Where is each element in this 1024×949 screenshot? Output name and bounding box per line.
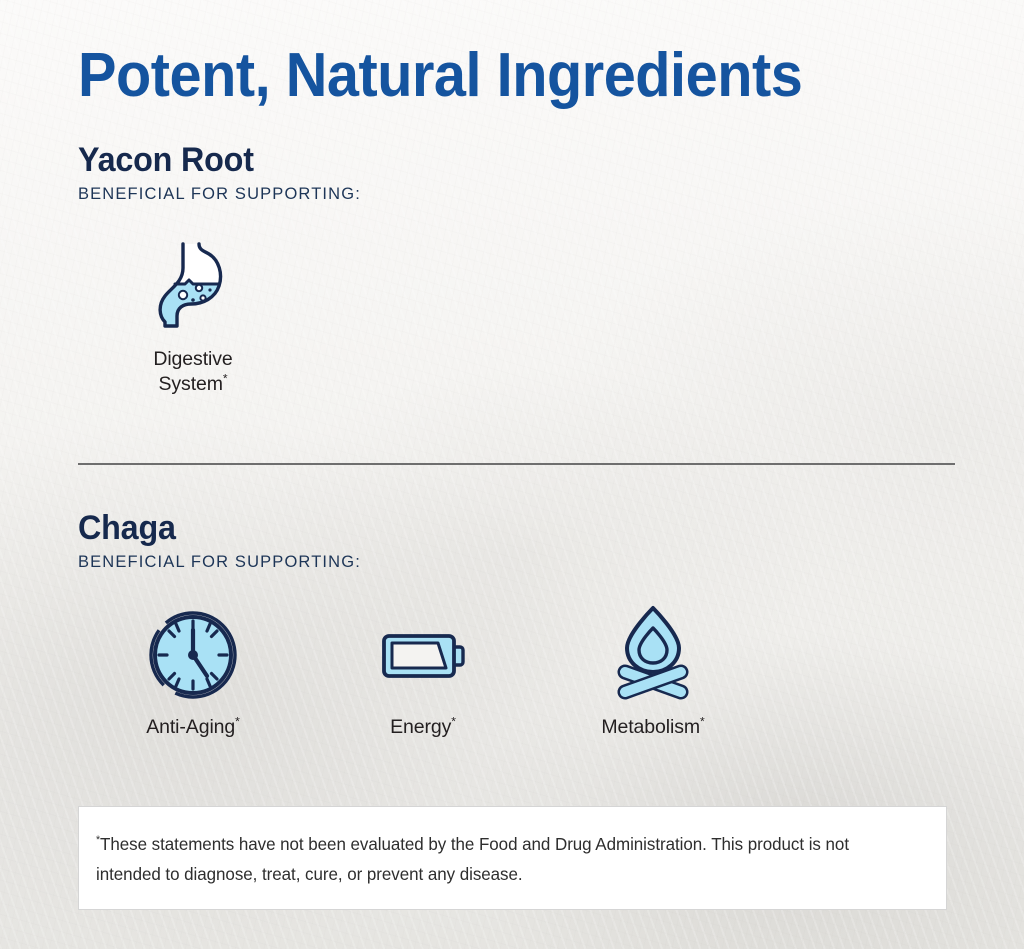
battery-icon	[375, 605, 471, 703]
stomach-icon	[147, 237, 239, 335]
beneficial-label-chaga: BENEFICIAL FOR SUPPORTING:	[78, 551, 958, 573]
asterisk-mark: *	[235, 715, 240, 729]
ingredients-infographic: Potent, Natural Ingredients Yacon Root B…	[0, 0, 1024, 949]
benefit-item-energy: Energy*	[308, 605, 538, 740]
benefit-caption-line2: System	[158, 373, 222, 395]
asterisk-mark: *	[451, 715, 456, 729]
benefit-caption-energy: Energy*	[390, 715, 456, 740]
asterisk-mark: *	[700, 715, 705, 729]
disclaimer-box: *These statements have not been evaluate…	[78, 806, 947, 910]
asterisk-mark: *	[223, 372, 228, 386]
ingredient-name-yacon-root: Yacon Root	[78, 140, 914, 180]
benefit-item-anti-aging: Anti-Aging*	[78, 605, 308, 740]
section-chaga: Chaga BENEFICIAL FOR SUPPORTING:	[78, 508, 958, 740]
benefit-row-yacon-root: Digestive System*	[78, 237, 958, 397]
benefit-caption-line1: Digestive	[153, 348, 232, 370]
clock-icon	[145, 605, 241, 703]
section-yacon-root: Yacon Root BENEFICIAL FOR SUPPORTING:	[78, 140, 958, 397]
section-divider	[78, 463, 955, 465]
page-title: Potent, Natural Ingredients	[78, 40, 802, 112]
benefit-caption-metabolism: Metabolism*	[601, 715, 704, 740]
disclaimer-body: These statements have not been evaluated…	[96, 834, 849, 884]
campfire-icon	[605, 605, 701, 703]
benefit-caption-digestive-system: Digestive System*	[153, 347, 232, 397]
benefit-item-metabolism: Metabolism*	[538, 605, 768, 740]
ingredient-name-chaga: Chaga	[78, 508, 914, 548]
benefit-item-digestive-system: Digestive System*	[78, 237, 308, 397]
beneficial-label-yacon-root: BENEFICIAL FOR SUPPORTING:	[78, 183, 958, 205]
benefit-caption-line1: Energy	[390, 716, 451, 738]
benefit-caption-anti-aging: Anti-Aging*	[146, 715, 240, 740]
disclaimer-text: *These statements have not been evaluate…	[96, 829, 905, 889]
benefit-row-chaga: Anti-Aging* Energy*	[78, 605, 958, 740]
benefit-caption-line1: Anti-Aging	[146, 716, 235, 738]
benefit-caption-line1: Metabolism	[601, 716, 700, 738]
